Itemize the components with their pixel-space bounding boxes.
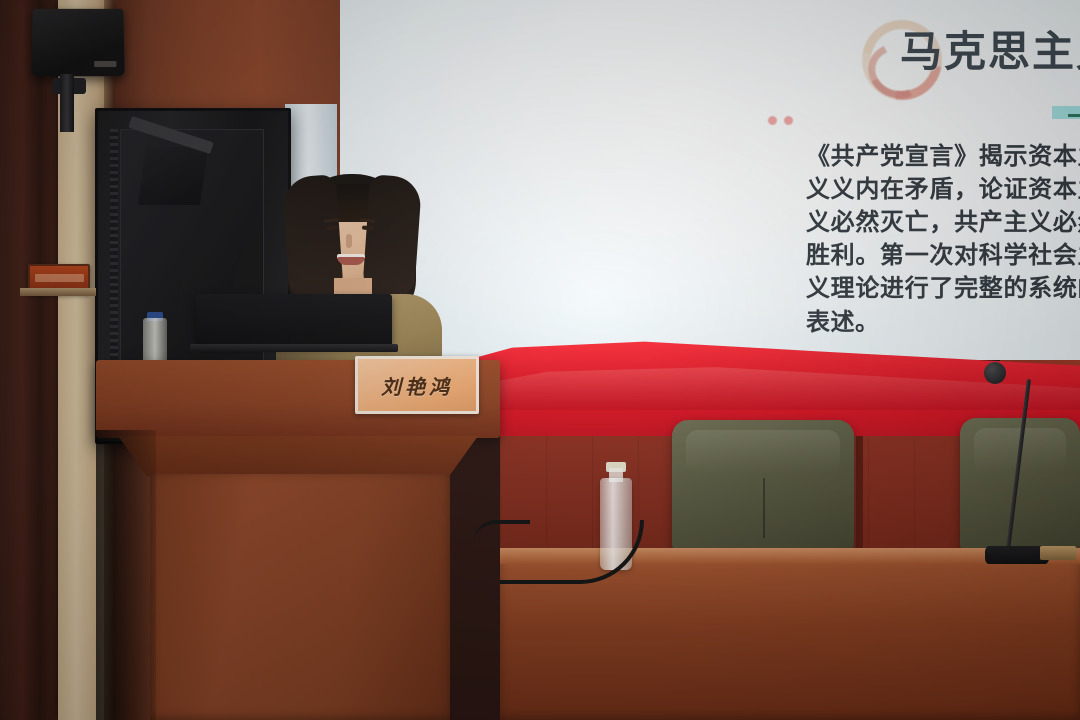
bracket-green-line [1068,114,1080,117]
dot-icon [768,116,777,125]
decoration-dots [768,116,793,125]
conference-chair [672,420,854,554]
slide-title: 马克思主义理论 [900,18,1080,79]
wall-shelf [20,288,96,296]
nose [346,234,352,248]
dot-icon [784,116,793,125]
loudspeaker-badge [94,61,116,67]
wood-seam [856,436,863,548]
slide-body-text: 《共产党宣言》揭示资本主义义内在矛盾，论证资本主义必然灭亡，共产主义必然胜利。第… [806,140,1080,339]
podium-shadow [96,430,156,720]
mouth [337,254,365,265]
bracket-cyan-bar [1052,106,1080,119]
chair-seam [763,478,765,538]
podium-body [150,474,450,720]
podium-bevel [118,436,478,476]
gooseneck-microphone-icon [984,362,1006,384]
laptop-icon [196,294,392,346]
table-nameplate-holder [1040,546,1076,560]
podium-nameplate: 刘艳鸿 [355,356,479,414]
podium-nameplate-text: 刘艳鸿 [381,371,453,400]
rack-shelf [138,147,208,205]
lecture-hall-scene: 马克思主义理论 《共产党宣言》揭示资本主义义内在矛盾，论证资本主义必然灭亡，共产… [0,0,1080,720]
speaker-mount-bracket [60,74,74,132]
laptop-base [190,344,398,352]
wall-sign-text [35,274,84,282]
corner-bracket-icon [1052,104,1080,144]
chair-highlight [686,430,840,474]
loudspeaker-icon [31,9,124,76]
